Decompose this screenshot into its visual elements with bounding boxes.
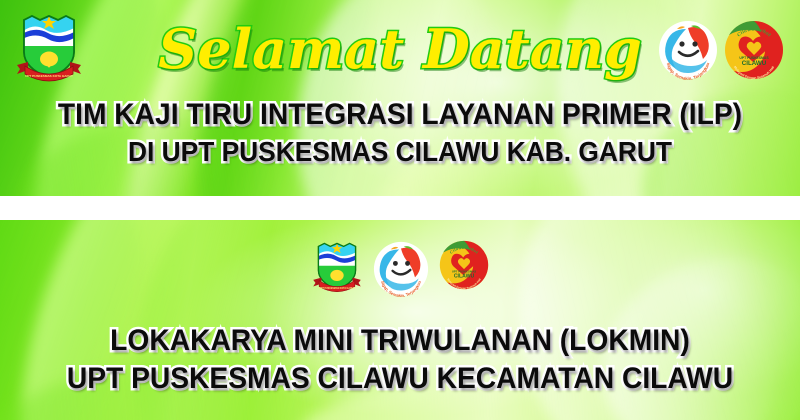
cilawu-line-2: CILAWU xyxy=(454,274,475,280)
lokmin-headline: LOKAKARYA MINI TRIWULANAN (LOKMIN) UPT P… xyxy=(24,322,776,399)
lokmin-headline-line-2: UPT PUSKESMAS CILAWU KECAMATAN CILAWU xyxy=(24,360,776,398)
lokmin-headline-line-1: LOKAKARYA MINI TRIWULANAN (LOKMIN) xyxy=(24,322,776,360)
garut-coat-of-arms-icon: UPT PUSKESMAS KOTA GARUT xyxy=(311,239,363,299)
welcome-headline-line-2: DI UPT PUSKESMAS CILAWU KAB. GARUT xyxy=(24,134,776,170)
welcome-headline-line-1: TIM KAJI TIRU INTEGRASI LAYANAN PRIMER (… xyxy=(24,96,776,134)
banner-divider xyxy=(0,196,800,220)
banner-page: UPT PUSKESMAS KOTA GARUT Sigap, Semakin,… xyxy=(0,0,800,420)
page-title: Selamat Datang xyxy=(0,22,800,76)
lokmin-logo-row: UPT PUSKESMAS KOTA GARUT Sigap, Semakin,… xyxy=(300,238,500,300)
welcome-headline: TIM KAJI TIRU INTEGRASI LAYANAN PRIMER (… xyxy=(24,96,776,170)
upt-puskesmas-cilawu-icon: UPT PUSKESMAS CILAWU Cilawu Sehat Melaya… xyxy=(439,240,489,298)
garut-ribbon-text: UPT PUSKESMAS KOTA GARUT xyxy=(319,287,355,290)
sigap-sehat-tanggap-icon: Sigap, Semakin, Terjangkau xyxy=(373,241,429,297)
